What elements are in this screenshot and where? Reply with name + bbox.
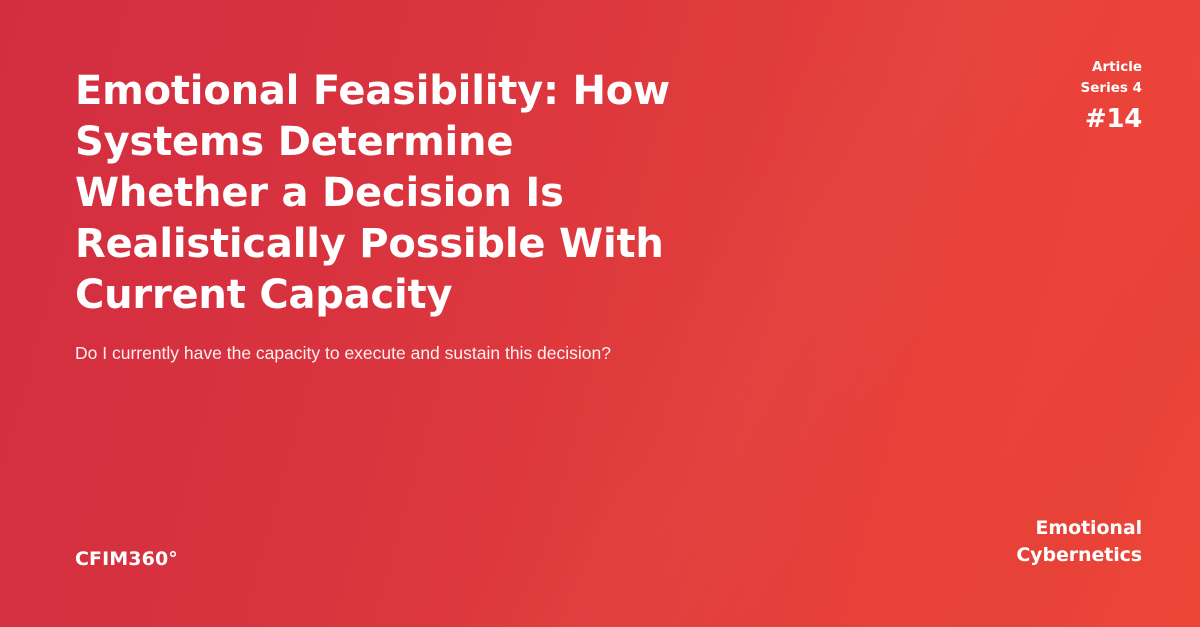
brand-name: Emotional Cybernetics <box>1016 515 1142 569</box>
article-series-label: Article Series 4 <box>1081 57 1142 99</box>
article-badge: Article Series 4 #14 <box>1081 57 1142 133</box>
card-content: Emotional Feasibility: How Systems Deter… <box>0 0 1200 627</box>
page-title: Emotional Feasibility: How Systems Deter… <box>75 66 695 321</box>
headline-block: Emotional Feasibility: How Systems Deter… <box>75 66 695 321</box>
subtitle-question: Do I currently have the capacity to exec… <box>75 341 615 365</box>
article-banner-card: Emotional Feasibility: How Systems Deter… <box>0 0 1200 627</box>
brand-logo: CFIM360° <box>75 547 178 571</box>
article-number-badge: #14 <box>1081 105 1142 133</box>
